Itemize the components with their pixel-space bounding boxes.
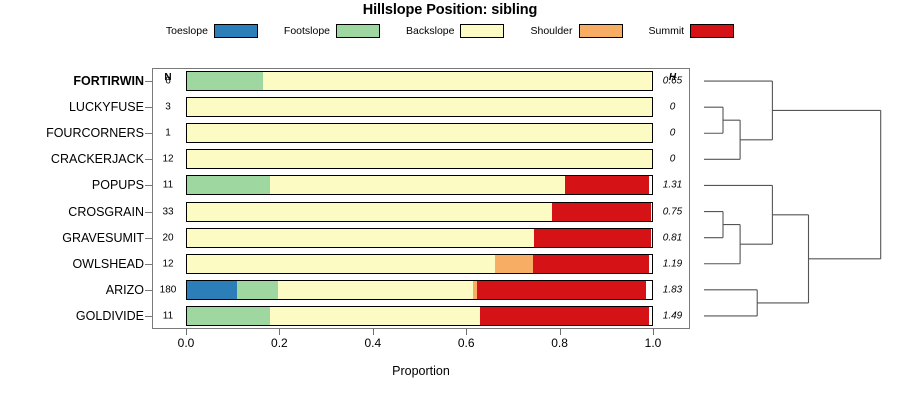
bar-segment-backslope	[187, 203, 553, 221]
n-value: 6	[152, 76, 184, 87]
dendrogram-svg	[696, 64, 900, 334]
bar-segment-summit	[480, 307, 649, 325]
x-axis-tick	[373, 329, 374, 335]
h-value: 1.19	[655, 258, 690, 269]
bar-segment-summit	[552, 203, 651, 221]
legend-swatch-toeslope	[214, 24, 258, 38]
x-axis: 0.00.20.40.60.81.0	[152, 329, 690, 369]
x-axis-tick-label: 0.6	[458, 336, 475, 350]
bar-segment-backslope	[187, 229, 536, 247]
legend-label: Toeslope	[166, 25, 208, 37]
bar-segment-backslope	[187, 255, 496, 273]
bar-segment-backslope	[263, 72, 650, 90]
row-label-gravesumit: GRAVESUMIT	[62, 231, 144, 245]
x-axis-tick-label: 0.4	[364, 336, 381, 350]
n-value: 11	[152, 180, 184, 191]
x-axis-tick-label: 0.2	[271, 336, 288, 350]
row-label-goldivide: GOLDIVIDE	[76, 309, 144, 323]
h-value: 1.31	[655, 180, 690, 191]
x-axis-tick-label: 0.0	[178, 336, 195, 350]
bar-segment-footslope	[237, 281, 280, 299]
n-value: 33	[152, 206, 184, 217]
bar-segment-summit	[533, 255, 649, 273]
page-title: Hillslope Position: sibling	[0, 2, 900, 18]
bar-segment-shoulder	[495, 255, 535, 273]
legend-swatch-shoulder	[579, 24, 623, 38]
x-axis-tick-label: 0.8	[551, 336, 568, 350]
legend-swatch-summit	[690, 24, 734, 38]
bar-gravesumit[interactable]	[186, 228, 653, 248]
n-value: 12	[152, 154, 184, 165]
bar-segment-footslope	[187, 307, 272, 325]
legend-swatch-backslope	[460, 24, 504, 38]
bar-arizo[interactable]	[186, 280, 653, 300]
h-value: 1.83	[655, 284, 690, 295]
row-label-crosgrain: CROSGRAIN	[68, 205, 144, 219]
x-axis-label: Proportion	[152, 364, 690, 378]
h-value: 0	[655, 102, 690, 113]
legend-item-footslope[interactable]: Footslope	[284, 24, 380, 38]
bar-luckyfuse[interactable]	[186, 97, 653, 117]
n-column: N 631121133201218011	[152, 68, 184, 329]
n-value: 20	[152, 232, 184, 243]
bar-owlshead[interactable]	[186, 254, 653, 274]
bar-segment-summit	[534, 229, 650, 247]
row-label-fortirwin: FORTIRWIN	[73, 74, 144, 88]
n-value: 3	[152, 102, 184, 113]
h-value: 0	[655, 128, 690, 139]
legend-item-shoulder[interactable]: Shoulder	[530, 24, 622, 38]
bar-crosgrain[interactable]	[186, 202, 653, 222]
row-label-crackerjack: CRACKERJACK	[51, 152, 144, 166]
legend-item-summit[interactable]: Summit	[649, 24, 735, 38]
legend-label: Shoulder	[530, 25, 572, 37]
bar-segment-footslope	[187, 176, 272, 194]
bar-fourcorners[interactable]	[186, 123, 653, 143]
legend: ToeslopeFootslopeBackslopeShoulderSummit	[0, 24, 900, 38]
x-axis-tick	[560, 329, 561, 335]
h-value: 0.65	[655, 76, 690, 87]
legend-label: Summit	[649, 25, 685, 37]
bar-segment-summit	[477, 281, 647, 299]
x-axis-tick	[279, 329, 280, 335]
row-label-luckyfuse: LUCKYFUSE	[69, 100, 144, 114]
bar-segment-toeslope	[187, 281, 238, 299]
bar-segment-backslope	[270, 176, 566, 194]
x-axis-tick-label: 1.0	[645, 336, 662, 350]
bar-goldivide[interactable]	[186, 306, 653, 326]
legend-item-toeslope[interactable]: Toeslope	[166, 24, 258, 38]
stacked-bars	[186, 68, 653, 329]
n-value: 180	[152, 284, 184, 295]
h-column: H 0.650001.310.750.811.191.831.49	[655, 68, 690, 329]
n-value: 11	[152, 310, 184, 321]
x-axis-tick	[466, 329, 467, 335]
h-value: 1.49	[655, 310, 690, 321]
bar-segment-backslope	[278, 281, 475, 299]
row-label-owlshead: OWLSHEAD	[72, 257, 144, 271]
n-value: 1	[152, 128, 184, 139]
row-label-popups: POPUPS	[92, 178, 144, 192]
row-label-fourcorners: FOURCORNERS	[46, 126, 144, 140]
bar-fortirwin[interactable]	[186, 71, 653, 91]
bar-segment-summit	[565, 176, 650, 194]
bar-popups[interactable]	[186, 175, 653, 195]
legend-label: Footslope	[284, 25, 330, 37]
legend-item-backslope[interactable]: Backslope	[406, 24, 504, 38]
dendrogram	[696, 64, 900, 334]
legend-label: Backslope	[406, 25, 454, 37]
bar-segment-backslope	[187, 124, 652, 142]
x-axis-tick	[653, 329, 654, 335]
row-label-arizo: ARIZO	[106, 283, 144, 297]
x-axis-tick	[186, 329, 187, 335]
n-value: 12	[152, 258, 184, 269]
bar-segment-backslope	[187, 98, 652, 116]
chart-root: Hillslope Position: sibling ToeslopeFoot…	[0, 0, 900, 400]
bar-segment-backslope	[187, 150, 652, 168]
legend-swatch-footslope	[336, 24, 380, 38]
bar-segment-backslope	[270, 307, 482, 325]
h-value: 0	[655, 154, 690, 165]
h-value: 0.75	[655, 206, 690, 217]
bar-segment-footslope	[187, 72, 265, 90]
row-labels: FORTIRWINLUCKYFUSEFOURCORNERSCRACKERJACK…	[0, 68, 148, 329]
h-value: 0.81	[655, 232, 690, 243]
bar-crackerjack[interactable]	[186, 149, 653, 169]
